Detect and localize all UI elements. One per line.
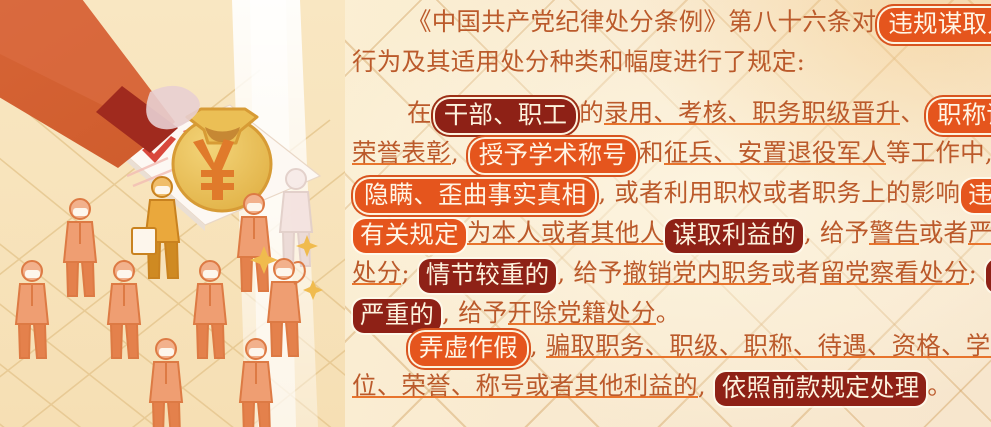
chip-seek-benefits: 谋取利益的 <box>665 219 803 253</box>
text-line: 有关规定为本人或者其他人谋取利益的, 给予警告或者严重警告 <box>352 213 991 253</box>
chip-cadres-and-staff: 干部、职工 <box>435 99 577 133</box>
underlined-run-punishment: 处分 <box>352 258 401 289</box>
underlined-run-removal-from-party-post: 撤销党内职务 <box>623 258 771 289</box>
text-line: 《中国共产党纪律处分条例》第八十六条对违规谋取人事利益 <box>352 2 991 42</box>
text-run-plain: , 给予 <box>804 218 869 247</box>
chip-title-evaluation: 职称评聘 <box>928 99 991 133</box>
text-line: 处分; 情节较重的, 给予撤销党内职务或者留党察看处分; 情节 <box>352 253 991 293</box>
underlined-run-obtain-by-deceit: 骗取职务、职级、职称、待遇、资格、学历、学 <box>546 331 991 362</box>
underlined-run-expulsion-from-party: 开除党籍处分 <box>508 298 656 329</box>
text-run-plain: 或者 <box>771 258 820 287</box>
underlined-run-honors: 荣誉表彰 <box>352 138 451 169</box>
text-run-plain: ; <box>401 258 417 287</box>
text-line: 荣誉表彰, 授予学术称号和征兵、安置退役军人等工作中, <box>352 133 991 173</box>
text-run-plain: 行为及其适用处分种类和幅度进行了规定: <box>352 47 805 76</box>
underlined-run-serious-warning: 严重警告 <box>968 218 991 249</box>
text-line: 弄虚作假, 骗取职务、职级、职称、待遇、资格、学历、学 <box>352 326 991 366</box>
text-line: 在干部、职工的录用、考核、职务职级晋升、职称评聘、 <box>352 93 991 133</box>
paragraph-article-86: 在干部、职工的录用、考核、职务职级晋升、职称评聘、 荣誉表彰, 授予学术称号和征… <box>352 93 991 333</box>
underlined-run-degree-honor-title: 位、荣誉、称号或者其他利益的 <box>352 371 698 402</box>
text-run-plain: 在 <box>407 98 432 127</box>
text-run-plain: , 给予 <box>442 298 507 327</box>
underlined-run-warning: 警告 <box>869 218 918 249</box>
text-run-plain: , 给予 <box>557 258 622 287</box>
poster-root: 《中国共产党纪律处分条例》第八十六条对违规谋取人事利益 行为及其适用处分种类和幅… <box>0 0 991 427</box>
text-run-plain: 。 <box>656 298 681 327</box>
text-run-plain: 。 <box>927 371 952 400</box>
chip-fraud: 弄虚作假 <box>410 332 527 366</box>
underlined-run-conscription-veterans: 征兵、安置退役军人 <box>664 138 886 169</box>
text-line: 行为及其适用处分种类和幅度进行了规定: <box>352 42 991 82</box>
chip-violation-of-personnel-interests: 违规谋取人事利益 <box>879 8 991 42</box>
text-run-plain: , <box>451 138 467 167</box>
chip-conceal-distort-truth: 隐瞒、歪曲事实真相 <box>355 179 595 213</box>
text-run-plain: 和 <box>639 138 664 167</box>
paragraph-fraud-clause: 弄虚作假, 骗取职务、职级、职称、待遇、资格、学历、学 位、荣誉、称号或者其他利… <box>352 326 991 406</box>
illustration-hand-offering-document-with-money-bag <box>0 0 345 427</box>
chip-violate: 违反 <box>961 179 991 213</box>
paragraph-intro: 《中国共产党纪律处分条例》第八十六条对违规谋取人事利益 行为及其适用处分种类和幅… <box>352 2 991 82</box>
text-line: 位、荣誉、称号或者其他利益的, 依照前款规定处理。 <box>352 366 991 406</box>
text-run-plain: 《中国共产党纪律处分条例》第八十六条对 <box>407 7 876 36</box>
underlined-run-recruitment-appraisal-promotion: 录用、考核、职务职级晋升 <box>604 98 900 129</box>
article-text-column: 《中国共产党纪律处分条例》第八十六条对违规谋取人事利益 行为及其适用处分种类和幅… <box>352 0 991 427</box>
chip-handle-per-preceding-paragraph: 依照前款规定处理 <box>715 372 927 406</box>
chip-relevant-regulations: 有关规定 <box>353 219 466 253</box>
text-line: 隐瞒、歪曲事实真相, 或者利用职权或者职务上的影响违反 <box>352 173 991 213</box>
text-run-plain: ; <box>969 258 985 287</box>
underlined-run-probation-within-party: 留党察看处分 <box>820 258 968 289</box>
chip-more-serious-circumstances: 情节较重的 <box>419 259 557 293</box>
text-run-plain: , <box>698 371 714 400</box>
chip-academic-title-award: 授予学术称号 <box>470 139 636 173</box>
text-run-plain: 、 <box>900 98 925 127</box>
text-run-plain: 等工作中, <box>886 138 991 167</box>
chip-circumstances: 情节 <box>986 259 991 293</box>
text-run-plain: , 或者利用职权或者职务上的影响 <box>598 178 960 207</box>
text-run-plain: 的 <box>579 98 604 127</box>
text-run-plain: , <box>530 331 546 360</box>
text-run-plain: 或者 <box>919 218 968 247</box>
underlined-run-for-self-or-others: 为本人或者其他人 <box>467 218 665 249</box>
